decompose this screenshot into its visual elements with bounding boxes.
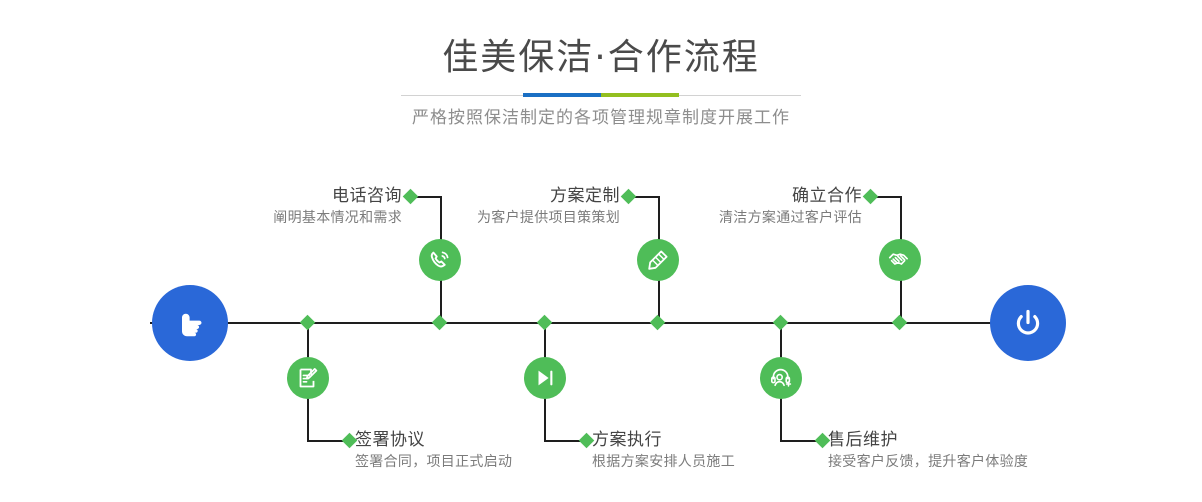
node-icon-step-6[interactable] — [760, 357, 802, 399]
cooperation-process-infographic: 佳美保洁·合作流程 严格按照保洁制定的各项管理规章制度开展工作 — [0, 0, 1202, 502]
node-icon-step-3[interactable] — [637, 239, 679, 281]
node-icon-step-2[interactable] — [287, 357, 329, 399]
label-step-5: 确立合作 清洁方案通过客户评估 — [575, 185, 862, 229]
label-step-5-title: 确立合作 — [575, 185, 862, 207]
phone-ring-icon — [427, 247, 453, 273]
node-icon-step-5[interactable] — [879, 239, 921, 281]
pointing-hand-icon — [170, 303, 210, 343]
timeline-end-endpoint — [990, 285, 1066, 361]
label-step-5-desc: 清洁方案通过客户评估 — [575, 207, 862, 229]
node-marker-step-5-axis — [892, 315, 908, 331]
node-marker-step-5-label — [863, 189, 879, 205]
node-icon-step-4[interactable] — [524, 357, 566, 399]
page-subtitle: 严格按照保洁制定的各项管理规章制度开展工作 — [0, 105, 1202, 131]
handshake-icon — [887, 247, 913, 273]
node-marker-step-3-axis — [650, 315, 666, 331]
label-step-6-title: 售后维护 — [828, 429, 1158, 451]
divider-segment-blue — [523, 93, 601, 97]
play-execute-icon — [532, 365, 558, 391]
node-marker-step-2-axis — [300, 315, 316, 331]
label-step-6: 售后维护 接受客户反馈，提升客户体验度 — [828, 429, 1158, 473]
node-marker-step-6-axis — [773, 315, 789, 331]
timeline-axis — [150, 322, 1050, 324]
power-icon — [1008, 303, 1048, 343]
document-edit-icon — [295, 365, 321, 391]
divider-segment-green — [601, 93, 679, 97]
node-icon-step-1[interactable] — [419, 239, 461, 281]
timeline-start-endpoint — [152, 285, 228, 361]
label-step-6-desc: 接受客户反馈，提升客户体验度 — [828, 451, 1158, 473]
node-marker-step-1-axis — [432, 315, 448, 331]
pencil-ruler-icon — [645, 247, 671, 273]
node-marker-step-4-axis — [537, 315, 553, 331]
title-divider — [401, 92, 801, 100]
support-agent-icon — [768, 365, 794, 391]
page-title: 佳美保洁·合作流程 — [0, 36, 1202, 80]
